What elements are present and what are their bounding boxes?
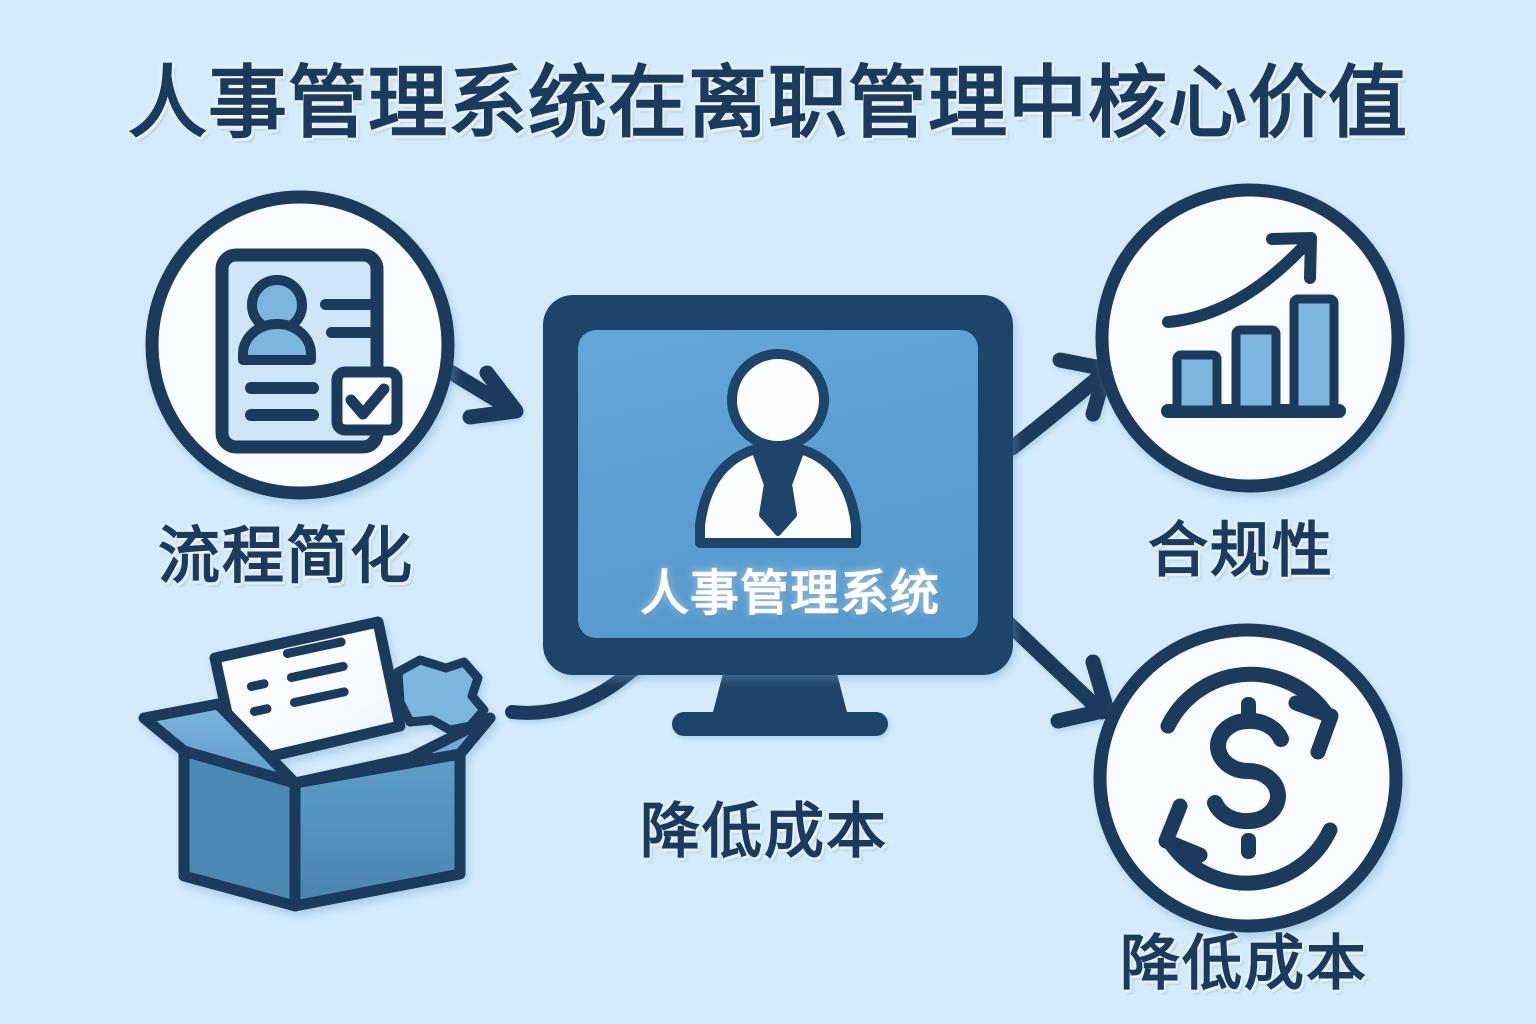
node-compliance[interactable] xyxy=(1102,190,1398,486)
node-process-simplification[interactable] xyxy=(152,197,448,493)
document-box-handover-icon xyxy=(144,622,490,906)
label-cost-reduction-right: 降低成本 xyxy=(1120,915,1368,1002)
arrow-system-to-compliance xyxy=(1012,360,1106,448)
node-handover-box[interactable] xyxy=(144,622,490,906)
label-compliance: 合规性 xyxy=(1148,502,1334,589)
infographic-canvas: 人事管理系统在离职管理中核心价值 流程简化 合规性 降低成本 降低成本 人事管理… xyxy=(0,0,1536,1024)
monitor-screen-caption: 人事管理系统 xyxy=(560,554,1020,625)
page-title: 人事管理系统在离职管理中核心价值 xyxy=(0,38,1536,153)
label-cost-reduction-center: 降低成本 xyxy=(640,783,888,870)
label-process-simplification: 流程简化 xyxy=(158,505,414,595)
employee-record-card-icon xyxy=(222,255,397,447)
node-hr-system-monitor[interactable] xyxy=(543,295,1013,736)
node-cost-reduction[interactable] xyxy=(1100,630,1396,926)
arrow-system-to-cost xyxy=(1005,620,1107,721)
